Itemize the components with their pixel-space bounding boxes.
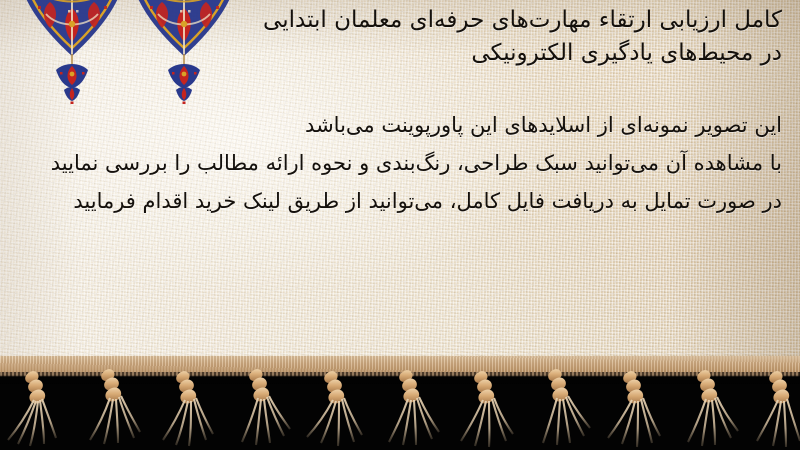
carpet-fringe-tassels bbox=[0, 350, 800, 450]
title-line-1: کامل ارزیابی ارتقاء مهارت‌های حرفه‌ای مع… bbox=[182, 4, 782, 37]
body-line-1: این تصویر نمونه‌ای از اسلایدهای این پاور… bbox=[12, 106, 782, 144]
title-line-2: در محیط‌های یادگیری الکترونیکی bbox=[182, 37, 782, 70]
slide-title: کامل ارزیابی ارتقاء مهارت‌های حرفه‌ای مع… bbox=[182, 4, 782, 70]
body-line-3: در صورت تمایل به دریافت فایل کامل، می‌تو… bbox=[12, 182, 782, 220]
slide-canvas: کامل ارزیابی ارتقاء مهارت‌های حرفه‌ای مع… bbox=[0, 0, 800, 450]
body-line-2: با مشاهده آن می‌توانید سبک طراحی، رنگ‌بن… bbox=[12, 144, 782, 182]
slide-body: این تصویر نمونه‌ای از اسلایدهای این پاور… bbox=[12, 106, 782, 220]
